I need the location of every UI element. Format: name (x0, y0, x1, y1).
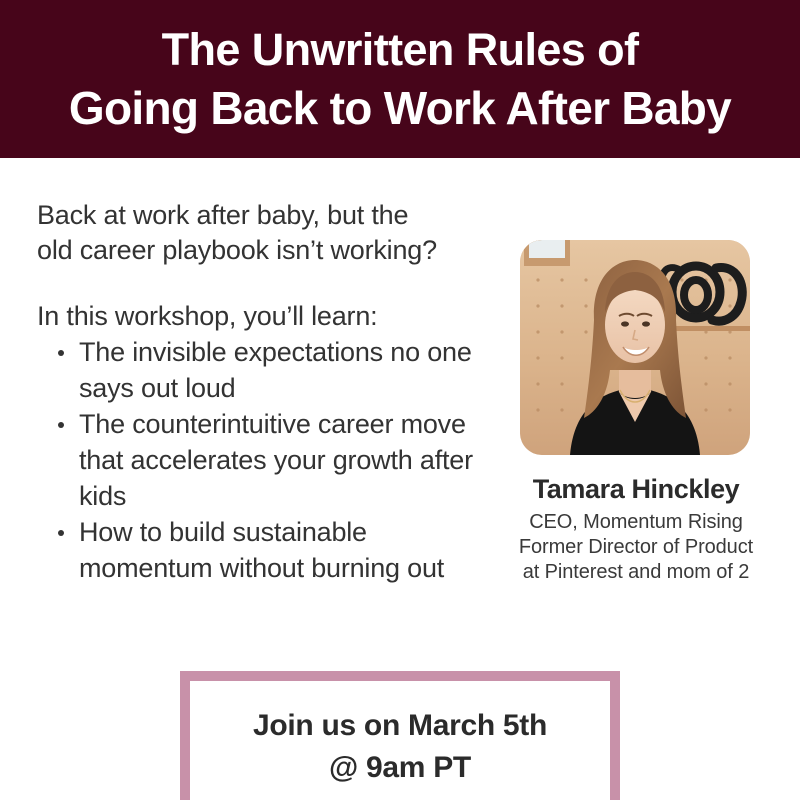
speaker-name: Tamara Hinckley (500, 473, 772, 506)
lede-line-2: old career playbook isn’t working? (37, 233, 497, 268)
lede-paragraph: Back at work after baby, but the old car… (37, 198, 497, 268)
cta-date-line: Join us on March 5th (253, 705, 547, 747)
page-title-line-2: Going Back to Work After Baby (69, 79, 731, 137)
speaker-bio: CEO, Momentum Rising Former Director of … (494, 510, 778, 585)
list-item: The counterintuitive career move that ac… (79, 406, 497, 514)
list-item: How to build sustainable momentum withou… (79, 514, 497, 586)
benefits-list: The invisible expectations no one says o… (37, 334, 497, 586)
list-item: The invisible expectations no one says o… (79, 334, 497, 406)
header-banner: The Unwritten Rules of Going Back to Wor… (0, 0, 800, 158)
main-content: Back at work after baby, but the old car… (0, 158, 800, 658)
speaker-headshot-image (520, 240, 750, 455)
webinar-promo-poster: The Unwritten Rules of Going Back to Wor… (0, 0, 800, 800)
speaker-photo (520, 240, 750, 455)
lede-line-1: Back at work after baby, but the (37, 198, 497, 233)
page-title-line-1: The Unwritten Rules of (162, 21, 639, 79)
cta-time-line: @ 9am PT (329, 747, 471, 789)
event-datetime-callout: Join us on March 5th @ 9am PT (180, 671, 620, 800)
speaker-bio-line-3: at Pinterest and mom of 2 (494, 560, 778, 585)
speaker-bio-line-2: Former Director of Product (494, 535, 778, 560)
speaker-bio-line-1: CEO, Momentum Rising (494, 510, 778, 535)
copy-column: Back at work after baby, but the old car… (37, 198, 497, 586)
learn-intro-text: In this workshop, you’ll learn: (37, 299, 497, 334)
